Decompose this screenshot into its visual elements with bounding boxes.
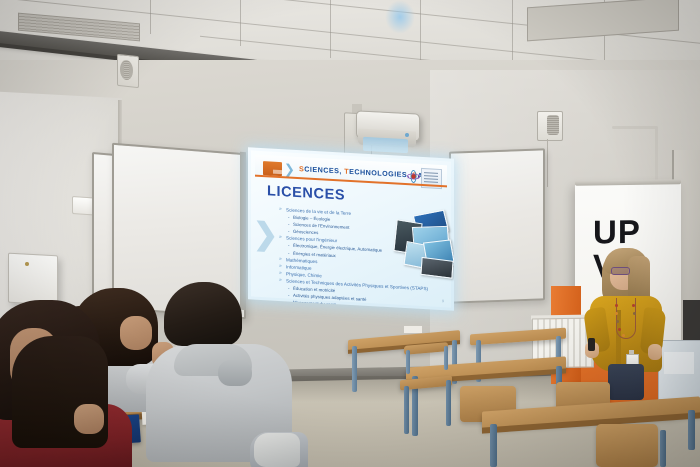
desk-leg <box>688 410 695 450</box>
slide-bullet-list: Sciences de la vie et de la TerreBiologi… <box>279 206 391 311</box>
ceiling-light-glow <box>385 0 415 34</box>
speaker-cable <box>547 139 548 187</box>
student-front-left <box>0 300 138 467</box>
presenter-hand-right <box>648 344 662 360</box>
hoodie-hood-fold <box>218 360 252 386</box>
chair-leg <box>406 350 410 374</box>
chair-leg <box>444 346 448 370</box>
whiteboard-right <box>449 148 545 303</box>
presenter-trousers <box>608 364 644 400</box>
storage-box-label <box>664 352 694 374</box>
paper-sheet <box>404 326 422 333</box>
header-word-technologies: ECHNOLOGIES, <box>349 167 412 180</box>
speaker-grille-icon <box>120 59 133 80</box>
glasses-icon <box>611 267 630 275</box>
electrical-box <box>8 253 58 306</box>
header-word-sciences: CIENCES, <box>304 164 344 175</box>
desk-leg <box>490 424 497 467</box>
banner-top-rail <box>575 179 681 185</box>
classroom-photo: ❯ SCIENCES, TECHNOLOGIES, SANTE LICENC <box>0 0 700 467</box>
floor-bag <box>254 433 300 467</box>
projector-led-icon <box>405 133 409 137</box>
slide-chevron-decor-icon: ❯ <box>253 221 279 250</box>
desk-leg <box>352 346 357 392</box>
chair-back <box>596 424 658 467</box>
slide-page-number: 9 <box>442 299 444 303</box>
banner-text-line1: UP <box>593 216 641 249</box>
chair-leg <box>446 380 451 426</box>
slide-title: LICENCES <box>267 183 345 203</box>
wall-conduit-horizontal <box>612 126 658 129</box>
student-right-hair <box>164 282 242 346</box>
student-front-left-hand <box>74 404 104 434</box>
box-screw-icon <box>25 262 29 266</box>
chevron-decor-icon: ❯ <box>284 162 297 177</box>
speaker-grille-icon-right <box>547 115 559 135</box>
photo-collage <box>395 210 451 275</box>
university-logo-icon <box>263 161 282 176</box>
remote-clicker[interactable] <box>588 338 595 351</box>
chair-leg <box>404 386 409 434</box>
chair-leg <box>660 430 666 467</box>
presenter <box>586 246 666 396</box>
